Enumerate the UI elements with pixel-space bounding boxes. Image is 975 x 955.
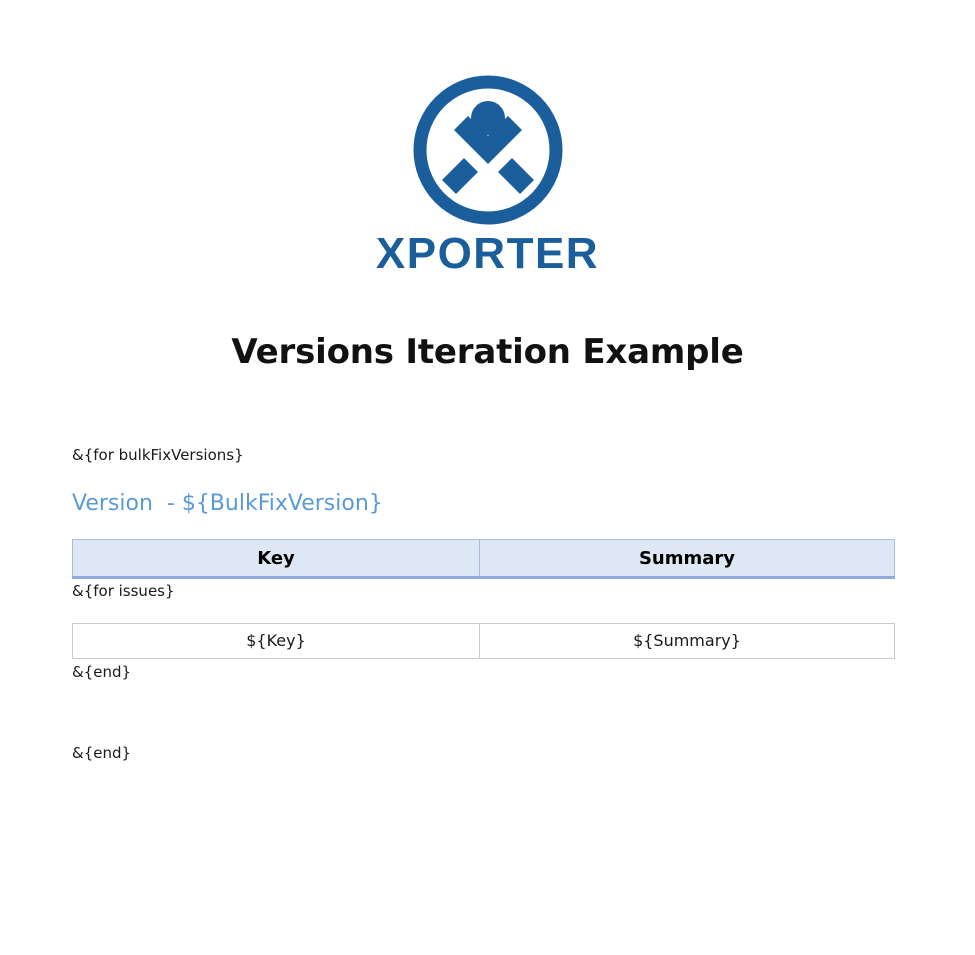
cell-key-placeholder: ${Key} bbox=[73, 623, 480, 658]
table-row: ${Key} ${Summary} bbox=[73, 623, 895, 658]
logo-wordmark: XPORTER bbox=[376, 232, 599, 276]
column-header-summary: Summary bbox=[480, 540, 895, 578]
page-title: Versions Iteration Example bbox=[0, 333, 975, 372]
template-tag-end-issues: &{end} bbox=[72, 663, 894, 682]
document-page: XPORTER Versions Iteration Example &{for… bbox=[0, 0, 975, 955]
version-heading: Version - ${BulkFixVersion} bbox=[72, 491, 894, 517]
xporter-logo-icon bbox=[410, 72, 566, 228]
template-tag-for-issues: &{for issues} bbox=[72, 582, 894, 601]
template-tag-for-bulkfixversions: &{for bulkFixVersions} bbox=[72, 446, 894, 465]
cell-summary-placeholder: ${Summary} bbox=[480, 623, 895, 658]
document-body: &{for bulkFixVersions} Version - ${BulkF… bbox=[72, 446, 894, 762]
issues-table-body: ${Key} ${Summary} bbox=[72, 623, 895, 659]
issues-table-header: Key Summary bbox=[72, 539, 895, 579]
brand-logo: XPORTER bbox=[0, 72, 975, 276]
template-tag-end-versions: &{end} bbox=[72, 744, 894, 763]
column-header-key: Key bbox=[73, 540, 480, 578]
table-header-row: Key Summary bbox=[73, 540, 895, 578]
